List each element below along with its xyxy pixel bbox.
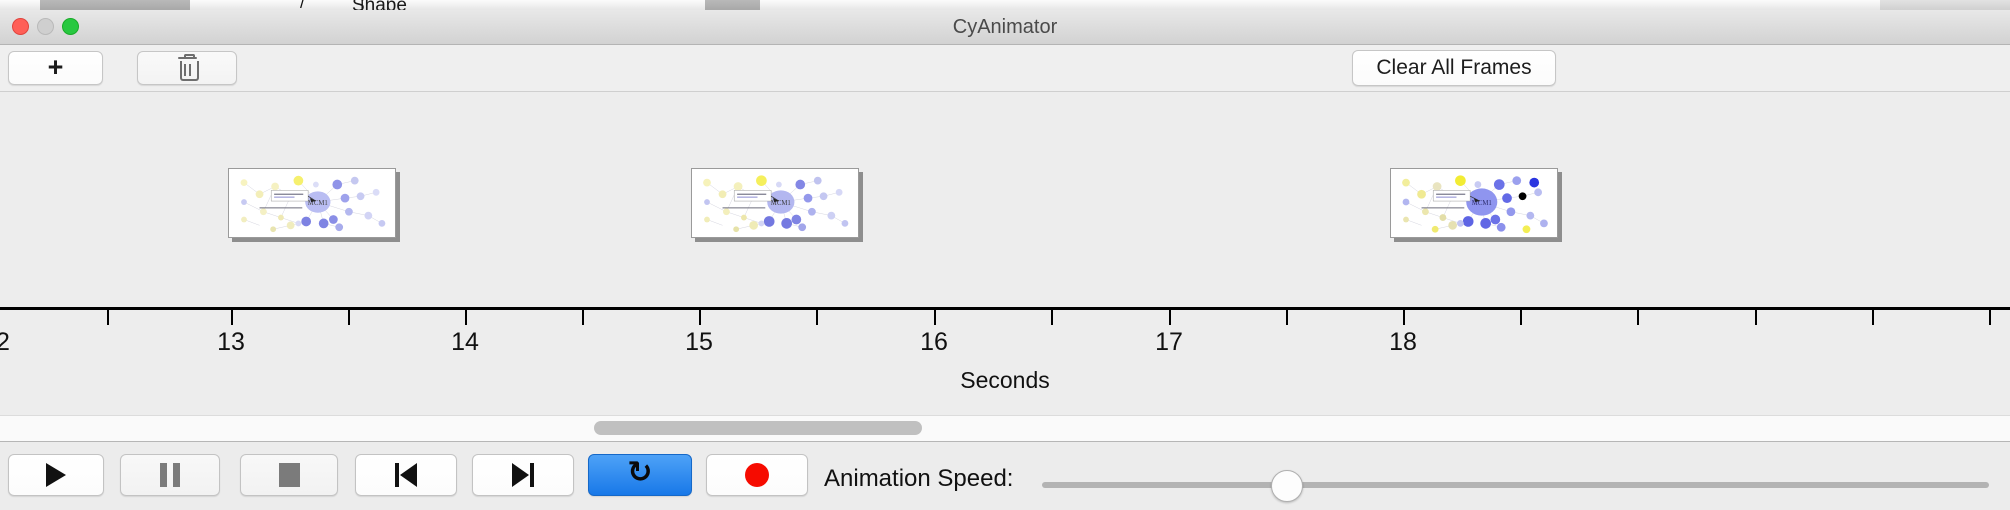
background-window-strip: / | Shape <box>0 0 2010 10</box>
axis-tick-label: 16 <box>920 328 948 357</box>
axis-tick <box>348 310 350 325</box>
pause-icon <box>160 463 180 487</box>
axis-tick-label: 18 <box>1389 328 1417 357</box>
frame-thumbnail: MCM1 <box>1390 168 1558 238</box>
axis-tick <box>1403 310 1405 325</box>
timeline-panel[interactable]: MCM1 <box>0 92 2010 415</box>
axis-tick <box>1520 310 1522 325</box>
axis-tick <box>1637 310 1639 325</box>
axis-tick-label: 15 <box>685 328 713 357</box>
skip-back-icon <box>395 463 417 487</box>
axis-tick <box>107 310 109 325</box>
delete-frame-button[interactable] <box>137 51 237 85</box>
background-window-label: Shape <box>352 0 407 10</box>
add-frame-button[interactable]: + <box>8 51 103 85</box>
loop-button[interactable]: ↻ <box>588 454 692 496</box>
animation-speed-slider[interactable] <box>1042 482 1989 488</box>
next-frame-button[interactable] <box>472 454 574 496</box>
frame-thumbnail: MCM1 <box>228 168 396 238</box>
axis-tick <box>1989 310 1991 325</box>
window-title: CyAnimator <box>0 10 2010 44</box>
timeline-axis <box>0 307 2010 310</box>
transport-bar: ↻ Animation Speed: <box>0 441 2010 510</box>
axis-title: Seconds <box>0 367 2010 394</box>
animation-speed-slider-thumb[interactable] <box>1271 470 1303 502</box>
prev-frame-button[interactable] <box>355 454 457 496</box>
record-icon <box>745 463 769 487</box>
frame-thumbnail: MCM1 <box>691 168 859 238</box>
network-thumbnail-1: MCM1 <box>229 169 395 237</box>
title-bar: CyAnimator <box>0 10 2010 45</box>
toolbar: + Clear All Frames <box>0 45 2010 92</box>
play-button[interactable] <box>8 454 104 496</box>
axis-tick <box>465 310 467 325</box>
axis-tick <box>934 310 936 325</box>
axis-tick <box>1872 310 1874 325</box>
stop-button[interactable] <box>240 454 338 496</box>
animation-speed-label: Animation Speed: <box>824 465 1013 493</box>
axis-tick <box>1051 310 1053 325</box>
scrollbar-thumb[interactable] <box>594 421 922 435</box>
network-thumbnail-2: MCM1 <box>692 169 858 237</box>
keyframe-2[interactable]: MCM1 <box>691 168 859 238</box>
axis-tick-label: 13 <box>217 328 245 357</box>
cyanimator-window: / | Shape .bg-strip .lbl{left:352px;} Cy… <box>0 0 2010 510</box>
axis-tick-label: 2 <box>0 328 10 357</box>
pause-button[interactable] <box>120 454 220 496</box>
plus-icon: + <box>48 54 64 81</box>
timeline-scrollbar[interactable] <box>0 415 2010 442</box>
axis-tick <box>1755 310 1757 325</box>
skip-forward-icon <box>512 463 534 487</box>
clear-all-frames-button[interactable]: Clear All Frames <box>1352 50 1556 86</box>
network-thumbnail-3: MCM1 <box>1391 169 1557 237</box>
stop-icon <box>279 463 300 487</box>
record-button[interactable] <box>706 454 808 496</box>
trash-icon <box>178 57 197 80</box>
keyframe-3[interactable]: MCM1 <box>1390 168 1558 238</box>
axis-tick <box>1286 310 1288 325</box>
axis-tick <box>582 310 584 325</box>
axis-tick <box>699 310 701 325</box>
axis-tick-label: 14 <box>451 328 479 357</box>
axis-tick-label: 17 <box>1155 328 1183 357</box>
axis-tick <box>1169 310 1171 325</box>
keyframe-1[interactable]: MCM1 <box>228 168 396 238</box>
loop-icon: ↻ <box>627 458 652 488</box>
axis-tick <box>231 310 233 325</box>
play-icon <box>46 463 66 487</box>
axis-tick <box>816 310 818 325</box>
